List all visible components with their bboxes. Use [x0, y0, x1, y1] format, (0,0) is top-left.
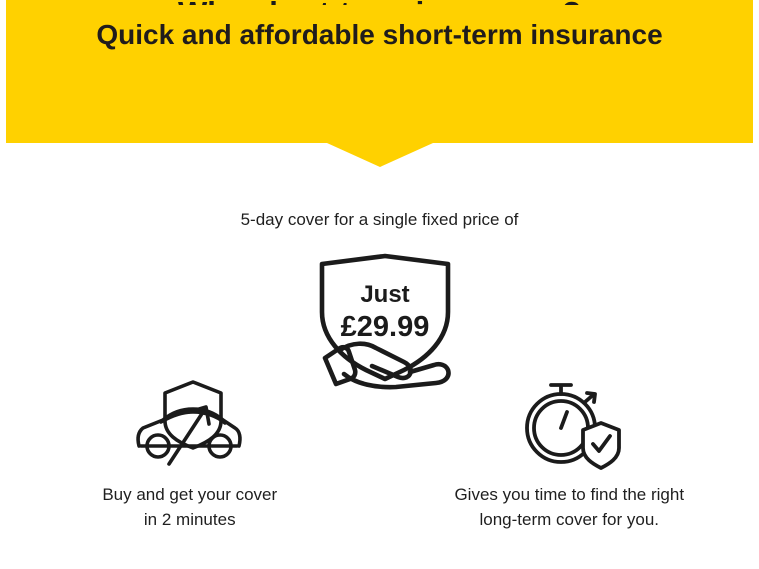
hero-headline-cut-off: Why short-term insurance? — [6, 0, 753, 5]
chevron-down-notch-icon — [327, 143, 433, 167]
hero-subheadline: Quick and affordable short-term insuranc… — [6, 17, 753, 53]
feature-caption: Gives you time to find the right long-te… — [454, 482, 684, 532]
feature-time-to-find-cover: Gives you time to find the right long-te… — [380, 372, 759, 532]
feature-caption: Buy and get your cover in 2 minutes — [102, 482, 277, 532]
stopwatch-shield-check-icon — [515, 372, 623, 472]
car-shield-arrow-icon — [131, 372, 249, 472]
feature-buy-in-2-minutes: Buy and get your cover in 2 minutes — [0, 372, 380, 532]
hero-banner: Why short-term insurance? Quick and affo… — [6, 0, 753, 143]
feature-list: Buy and get your cover in 2 minutes Giv — [0, 372, 759, 532]
price-lead-text: 5-day cover for a single fixed price of — [0, 210, 759, 230]
